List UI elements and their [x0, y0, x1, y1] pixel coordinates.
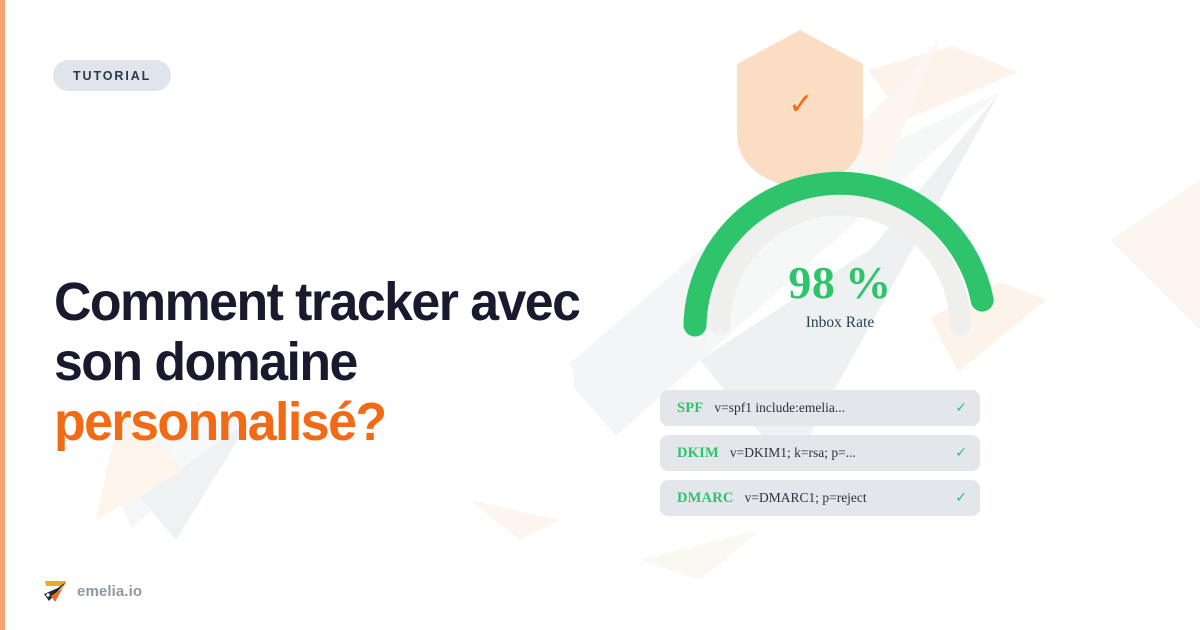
page-title: Comment tracker avec son domaine personn… — [54, 272, 640, 452]
dns-record-row-spf[interactable]: SPF v=spf1 include:emelia... ✓ — [660, 390, 980, 426]
dns-record-check-icon: ✓ — [955, 400, 967, 416]
dns-record-value: v=DMARC1; p=reject — [745, 490, 867, 506]
gauge-value: 98 % — [660, 258, 1020, 308]
dns-record-key: DKIM — [677, 445, 719, 462]
dns-record-value: v=spf1 include:emelia... — [714, 400, 845, 416]
paper-plane-logo-icon — [42, 578, 68, 604]
dns-record-value: v=DKIM1; k=rsa; p=... — [730, 445, 856, 461]
tutorial-badge: TUTORIAL — [53, 60, 171, 91]
headline-line-1: Comment tracker avec — [54, 272, 640, 332]
dns-record-row-dmarc[interactable]: DMARC v=DMARC1; p=reject ✓ — [660, 480, 980, 516]
brand-footer[interactable]: emelia.io — [42, 578, 142, 604]
tutorial-badge-label: TUTORIAL — [73, 69, 151, 83]
dns-record-key: DMARC — [677, 490, 734, 507]
dns-record-check-icon: ✓ — [955, 445, 967, 461]
left-accent-strip — [0, 0, 5, 630]
social-card-canvas: TUTORIAL Comment tracker avec son domain… — [0, 0, 1200, 630]
dns-record-key: SPF — [677, 400, 703, 417]
brand-name: emelia.io — [77, 583, 142, 600]
dns-record-row-dkim[interactable]: DKIM v=DKIM1; k=rsa; p=... ✓ — [660, 435, 980, 471]
dns-records-list: SPF v=spf1 include:emelia... ✓ DKIM v=DK… — [660, 390, 980, 525]
gauge-label: Inbox Rate — [660, 314, 1020, 332]
headline-line-2: son domaine — [54, 332, 640, 392]
headline-line-3-accent: personnalisé? — [54, 392, 640, 452]
dns-record-check-icon: ✓ — [955, 490, 967, 506]
